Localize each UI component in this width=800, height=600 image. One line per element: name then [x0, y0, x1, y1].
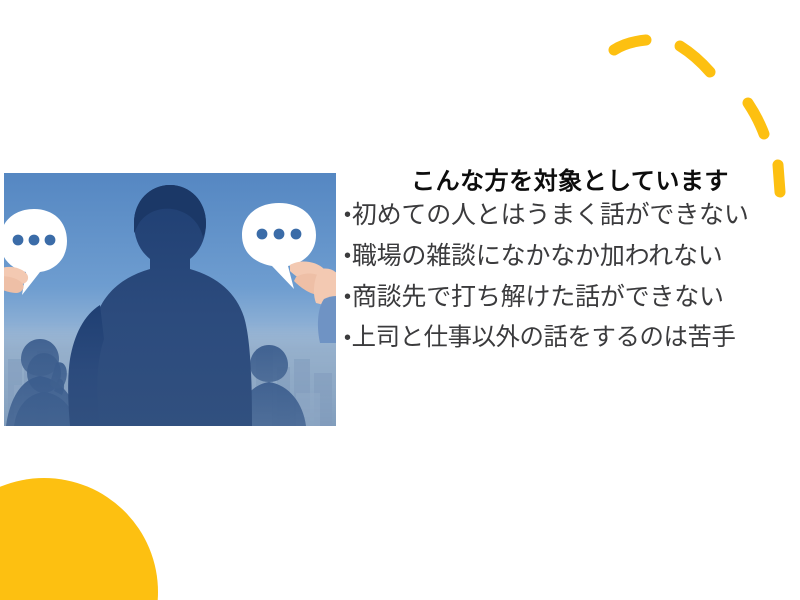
bullet-marker-icon: • — [344, 327, 351, 350]
bullet-text: 初めての人とはうまく話ができない — [352, 203, 749, 228]
list-item: • 商談先で打ち解けた話ができない — [344, 285, 796, 310]
arc-dash-2 — [680, 46, 710, 72]
page-title: こんな方を対象としています — [344, 168, 796, 197]
decorative-circle — [0, 478, 158, 600]
bullet-marker-icon: • — [344, 245, 351, 268]
arc-dash-3 — [748, 103, 764, 134]
list-item: • 初めての人とはうまく話ができない — [344, 203, 796, 228]
bullet-marker-icon: • — [344, 204, 351, 227]
bullet-text: 職場の雑談になかなか加われない — [352, 244, 723, 269]
arc-dash-1 — [614, 40, 646, 50]
slide-canvas: こんな方を対象としています • 初めての人とはうまく話ができない • 職場の雑談… — [0, 0, 800, 600]
list-item: • 上司と仕事以外の話をするのは苦手 — [344, 326, 796, 350]
hero-photo — [4, 173, 336, 426]
bullet-list: • 初めての人とはうまく話ができない • 職場の雑談になかなか加われない • 商… — [344, 203, 796, 350]
list-item: • 職場の雑談になかなか加われない — [344, 244, 796, 269]
text-column: こんな方を対象としています • 初めての人とはうまく話ができない • 職場の雑談… — [344, 168, 796, 366]
bullet-text: 商談先で打ち解けた話ができない — [352, 285, 724, 310]
bullet-marker-icon: • — [344, 286, 351, 309]
bullet-text: 上司と仕事以外の話をするのは苦手 — [352, 326, 736, 350]
